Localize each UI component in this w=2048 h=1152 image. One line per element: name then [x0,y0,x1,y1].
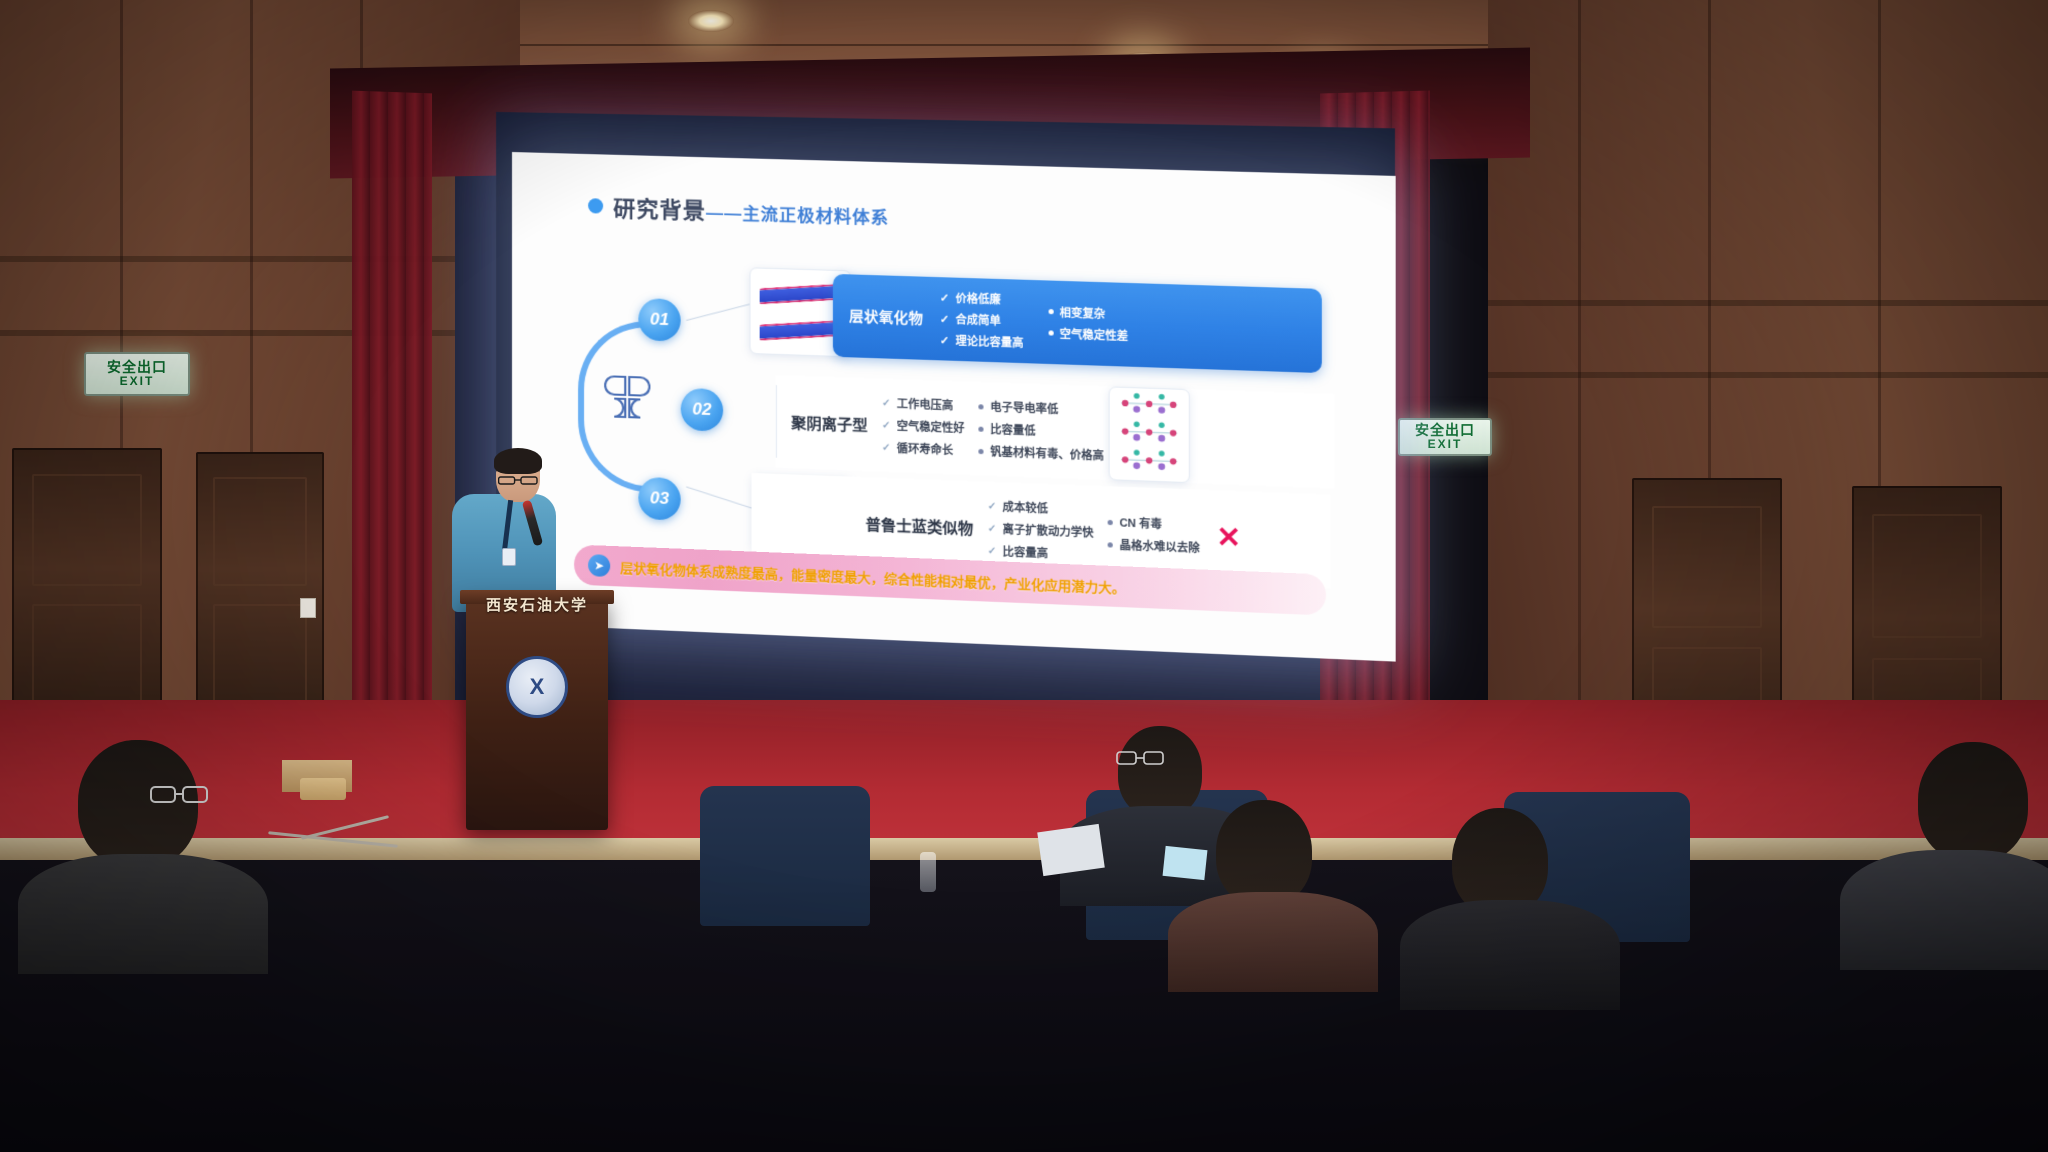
step-badge-03: 03 [638,477,680,521]
con-label: 晶格水难以去除 [1119,537,1199,556]
con-item: CN 有毒 [1108,514,1200,534]
pro-label: 价格低廉 [955,290,1000,308]
glasses-icon [150,782,208,808]
handout-paper [1163,846,1208,880]
category-name-polyanion: 聚阴离子型 [791,411,867,435]
exit-sign-left: 安全出口 EXIT [84,352,190,396]
wall-socket [300,598,316,618]
con-item: 比容量低 [979,421,1104,442]
four-petal-icon [604,373,650,421]
slide-title-row: 研究背景——主流正极材料体系 [588,190,1368,245]
pro-item: ✓成本较低 [988,498,1094,518]
page-title: 研究背景——主流正极材料体系 [613,191,889,231]
pro-label: 工作电压高 [897,395,953,413]
check-icon: ✓ [940,333,949,346]
category-name-layered-oxide: 层状氧化物 [849,306,923,329]
audience-head [1118,726,1202,818]
bullet-dot-icon [1108,519,1113,524]
exit-sign-label-cn: 安全出口 [1415,423,1475,438]
handout-paper [1037,824,1105,876]
bullet-dot-icon [979,404,984,409]
audience-head [1216,800,1312,906]
audience-shoulders [1840,850,2048,970]
podium: 西安石油大学 X [466,598,608,830]
audience-head [1918,742,2028,862]
glasses-icon [1116,748,1164,768]
bullet-dot-icon [1048,330,1053,335]
check-icon: ✓ [882,420,891,431]
slide-title-dash: —— [706,204,742,224]
audience-shoulders [1400,900,1620,1010]
con-label: 比容量低 [990,421,1035,439]
pro-label: 合成简单 [955,311,1000,329]
pro-label: 循环寿命长 [897,440,953,458]
structure-image-polyanion [1109,386,1190,483]
pro-label: 理论比容量高 [955,332,1023,350]
podium-institution-label: 西安石油大学 [466,594,608,615]
water-bottle [920,852,936,892]
pro-item: ✓循环寿命长 [882,439,964,458]
pro-item: ✓离子扩散动力学快 [988,520,1094,540]
slide-title-main: 研究背景 [613,196,706,224]
bullet-dot-icon [979,448,984,453]
stage-front-panel [0,860,2048,1152]
exit-sign-label-en: EXIT [120,375,155,388]
connector-line-1 [686,302,758,321]
con-label: CN 有毒 [1119,514,1162,532]
category-name-prussian-blue: 普鲁士蓝类似物 [866,513,974,538]
con-label: 电子导电率低 [990,399,1058,418]
stage-curtain-left [352,91,432,734]
university-seal-icon: X [506,656,568,718]
speaker-hair [494,448,542,474]
check-icon: ✓ [882,397,891,408]
pro-item: ✓价格低廉 [940,289,1024,308]
bullet-dot-icon [979,426,984,431]
exit-sign-right: 安全出口 EXIT [1398,418,1492,456]
con-label: 钒基材料有毒、价格高 [990,443,1104,463]
check-icon: ✓ [988,523,997,535]
glasses-icon [498,476,538,485]
pros-list-row3: ✓成本较低 ✓离子扩散动力学快 ✓比容量高 [988,498,1094,563]
exit-sign-label-cn: 安全出口 [107,360,167,375]
step-badge-01: 01 [638,298,680,342]
con-item: 空气稳定性差 [1048,325,1128,344]
con-item: 电子导电率低 [979,398,1104,419]
pro-item: ✓工作电压高 [882,395,964,414]
con-item: 晶格水难以去除 [1108,536,1200,556]
con-label: 相变复杂 [1060,304,1106,322]
auditorium-seat [700,786,870,926]
con-label: 空气稳定性差 [1060,325,1128,344]
pro-item: ✓比容量高 [988,543,1094,563]
id-badge [502,548,516,566]
slide-title-sub: 主流正极材料体系 [742,205,889,228]
check-icon: ✓ [882,442,891,453]
pro-label: 离子扩散动力学快 [1002,521,1093,541]
pro-label: 空气稳定性好 [897,418,965,437]
tape-roll [300,778,346,800]
audience-shoulders [18,854,268,974]
arrow-icon: ➤ [588,554,610,577]
pro-label: 比容量高 [1002,543,1047,561]
con-item: 钒基材料有毒、价格高 [979,443,1104,464]
pros-list-row1: ✓价格低廉 ✓合成简单 ✓理论比容量高 [940,289,1024,351]
pro-item: ✓理论比容量高 [940,332,1024,351]
check-icon: ✓ [988,545,997,557]
cons-list-row3: CN 有毒 晶格水难以去除 [1108,514,1200,556]
pro-item: ✓合成简单 [940,311,1024,330]
exit-sign-label-en: EXIT [1428,438,1463,451]
reject-cross-icon: ✕ [1216,523,1241,553]
pros-list-row2: ✓工作电压高 ✓空气稳定性好 ✓循环寿命长 [882,395,964,459]
check-icon: ✓ [988,501,997,513]
check-icon: ✓ [940,312,949,325]
conclusion-text: 层状氧化物体系成熟度最高，能量密度最大，综合性能相对最优，产业化应用潜力大。 [620,557,1125,597]
bullet-dot-icon [588,198,603,213]
pro-label: 成本较低 [1002,499,1047,517]
bullet-dot-icon [1108,542,1113,547]
pro-item: ✓空气稳定性好 [882,417,964,436]
connector-line-3 [686,486,758,510]
cons-list-row2: 电子导电率低 比容量低 钒基材料有毒、价格高 [979,398,1104,463]
con-item: 相变复杂 [1048,303,1128,322]
material-row-polyanion: 聚阴离子型 ✓工作电压高 ✓空气稳定性好 ✓循环寿命长 电子导电率低 比容量低 … [776,375,1335,489]
check-icon: ✓ [940,291,949,304]
audience-shoulders [1168,892,1378,992]
material-row-layered-oxide: 层状氧化物 ✓价格低廉 ✓合成简单 ✓理论比容量高 相变复杂 空气稳定性差 [833,274,1322,373]
cons-list-row1: 相变复杂 空气稳定性差 [1048,303,1128,343]
ceiling-light [688,10,734,32]
bullet-dot-icon [1048,309,1053,314]
polyanion-lattice [1112,390,1187,479]
step-badge-02: 02 [681,388,723,432]
presentation-slide: 研究背景——主流正极材料体系 01 02 03 层状氧化物 [512,152,1396,662]
